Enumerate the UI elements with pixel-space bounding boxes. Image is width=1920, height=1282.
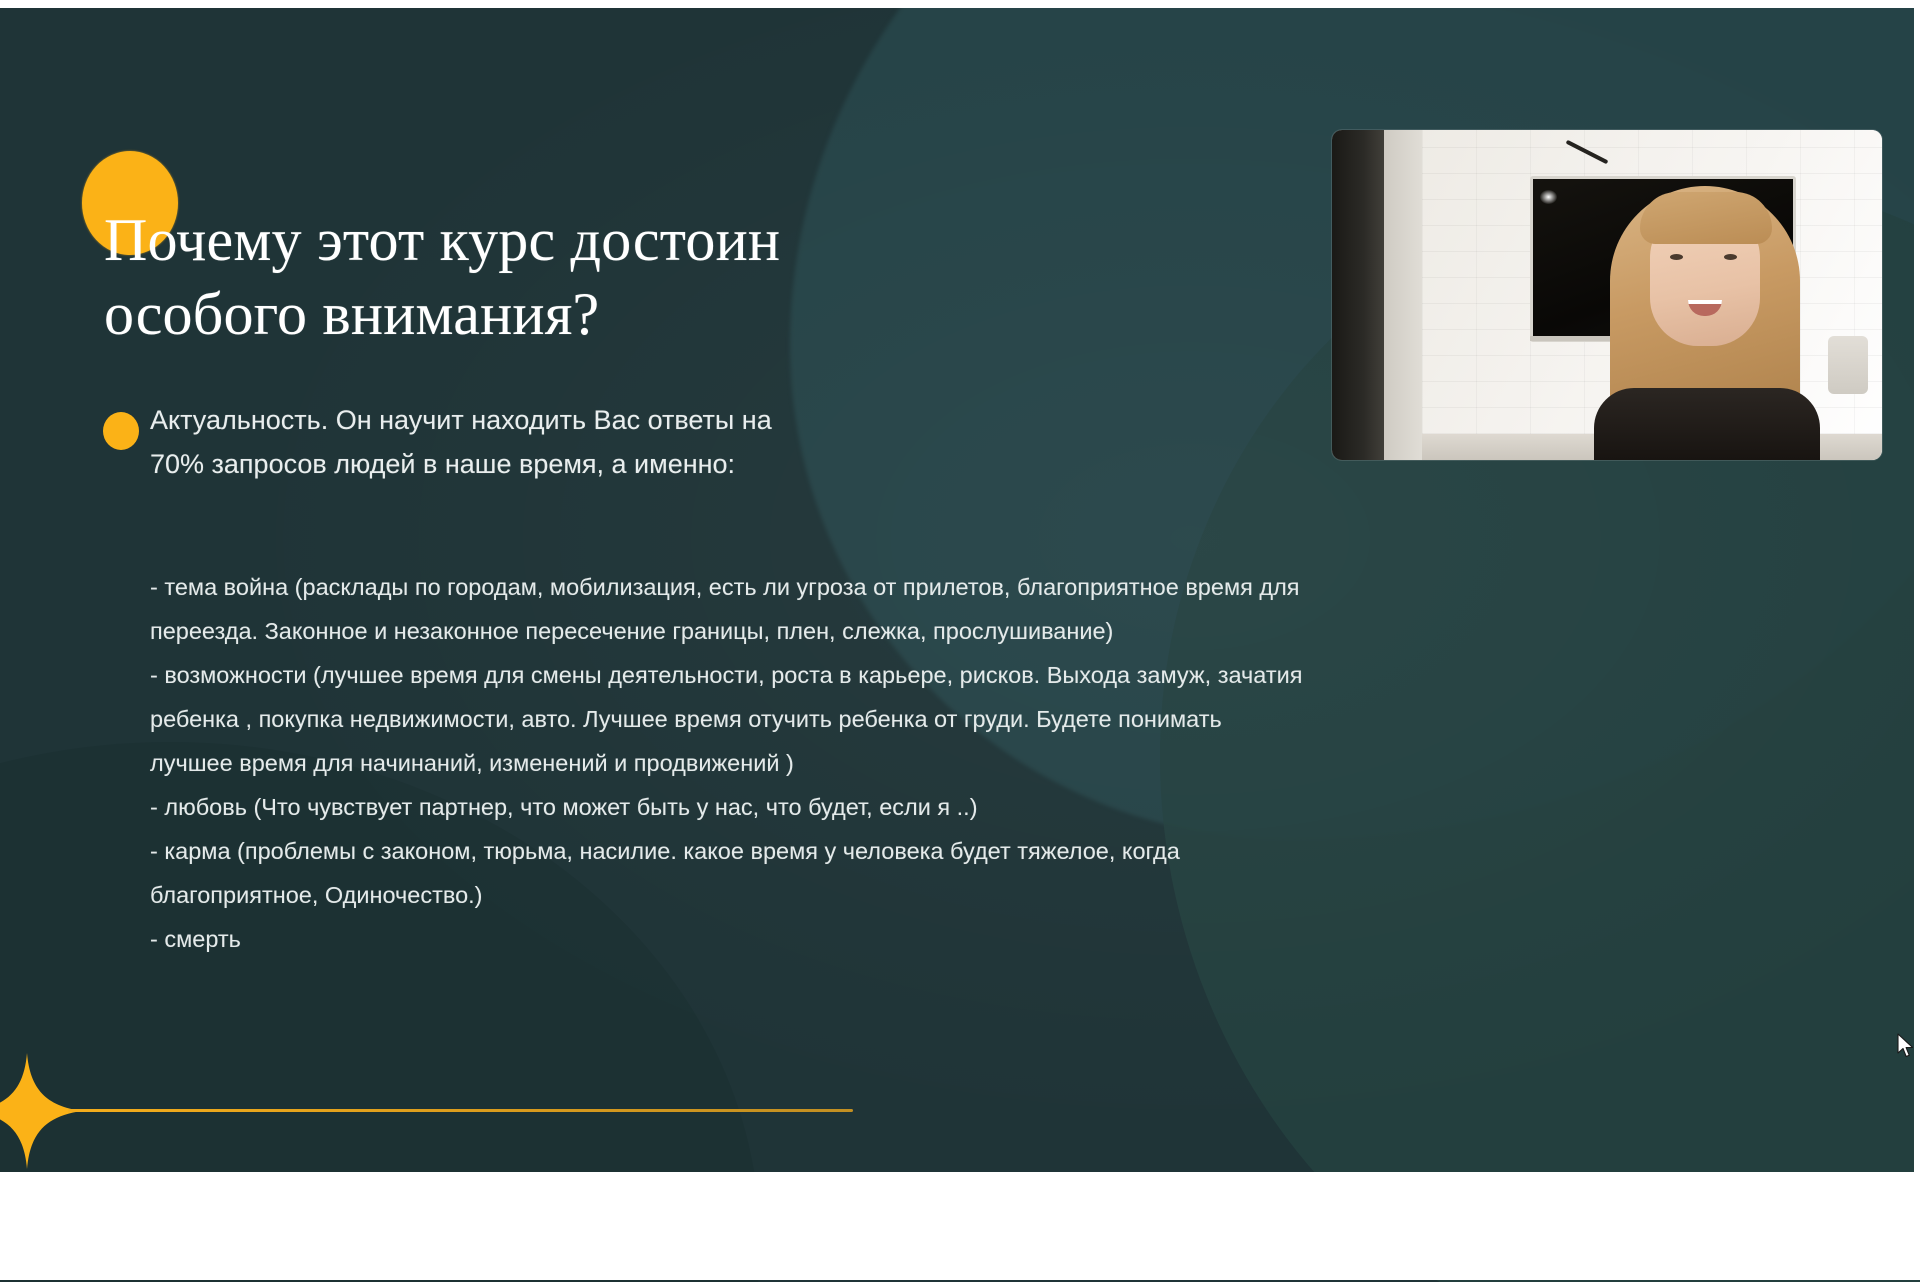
- video-presenter-eye-left: [1670, 254, 1683, 260]
- slide-title: Почему этот курс достоин особого внимани…: [104, 203, 1084, 351]
- screen-top-letterbox: [0, 0, 1920, 8]
- video-tv-glare: [1540, 190, 1557, 204]
- lead-paragraph: Актуальность. Он научит находить Вас отв…: [150, 398, 930, 486]
- bottom-accent-rule: [68, 1109, 853, 1112]
- video-shelf-object: [1828, 336, 1868, 394]
- lead-accent-bullet: [103, 412, 139, 450]
- body-line-war: - тема война (расклады по городам, мобил…: [150, 565, 1310, 653]
- presenter-video-feed[interactable]: [1332, 130, 1882, 460]
- body-line-karma: - карма (проблемы с законом, тюрьма, нас…: [150, 829, 1310, 917]
- screen-bottom-letterbox: [0, 1172, 1920, 1280]
- video-presenter-fringe: [1640, 192, 1772, 244]
- body-line-death: - смерть: [150, 917, 1310, 961]
- video-dark-doorway: [1332, 130, 1384, 460]
- body-line-love: - любовь (Что чувствует партнер, что мож…: [150, 785, 1310, 829]
- slide-body-list: - тема война (расклады по городам, мобил…: [150, 565, 1310, 961]
- presentation-screen: Почему этот курс достоин особого внимани…: [0, 0, 1920, 1280]
- video-door-trim: [1384, 130, 1422, 460]
- video-presenter-torso: [1594, 388, 1820, 460]
- video-presenter-eye-right: [1724, 254, 1737, 260]
- screen-right-letterbox: [1914, 0, 1920, 1280]
- slide-canvas[interactable]: Почему этот курс достоин особого внимани…: [0, 0, 1920, 1282]
- body-line-opportunities: - возможности (лучшее время для смены де…: [150, 653, 1310, 785]
